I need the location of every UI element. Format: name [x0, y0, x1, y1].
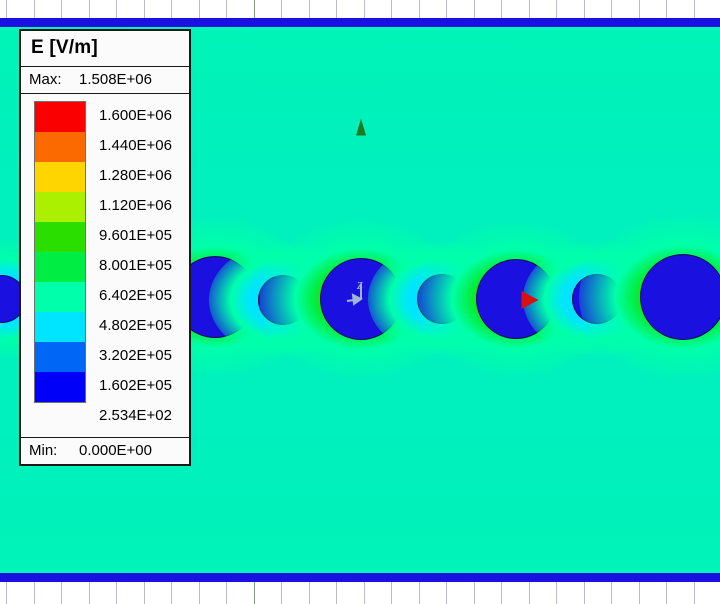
enclosure-wall-bottom	[0, 573, 720, 582]
enclosure-wall-top	[0, 18, 720, 27]
ruler-tick	[336, 582, 337, 604]
ruler-tick	[199, 0, 200, 18]
legend-min-row: Min: 0.000E+00	[21, 437, 189, 464]
ruler-tick	[666, 0, 667, 18]
ruler-tick	[144, 0, 145, 18]
ruler-tick	[116, 0, 117, 18]
ruler-tick	[391, 0, 392, 18]
ruler-tick	[144, 582, 145, 604]
ruler-tick	[529, 582, 530, 604]
legend-min-value: 0.000E+00	[79, 442, 152, 459]
conductor-disc	[477, 260, 555, 338]
conductor-disc	[641, 255, 720, 339]
ruler-tick	[171, 0, 172, 18]
ruler-tick	[226, 582, 227, 604]
legend-swatch	[35, 132, 85, 162]
legend-color-scale: 1.600E+061.440E+061.280E+061.120E+069.60…	[21, 94, 189, 437]
conductor-disc	[573, 275, 621, 323]
ruler-tick	[446, 0, 447, 18]
axis-label-z: z	[357, 277, 363, 294]
legend-tick-label: 4.802E+05	[99, 311, 189, 341]
ruler-tick	[61, 582, 62, 604]
legend-tick-column: 1.600E+061.440E+061.280E+061.120E+069.60…	[99, 86, 189, 431]
legend-tick-label: 9.601E+05	[99, 221, 189, 251]
color-legend-panel[interactable]: E [V/m] Max: 1.508E+06 1.600E+061.440E+0…	[19, 29, 191, 466]
ruler-tick	[639, 582, 640, 604]
legend-tick-label: 6.402E+05	[99, 281, 189, 311]
ruler-tick	[281, 0, 282, 18]
legend-tick-label: 1.440E+06	[99, 131, 189, 161]
ruler-tick	[474, 0, 475, 18]
ruler-tick	[474, 582, 475, 604]
ruler-tick	[501, 582, 502, 604]
ruler-tick	[391, 582, 392, 604]
legend-title: E [V/m]	[21, 31, 189, 67]
ruler-tick	[309, 0, 310, 18]
axis-triad-marker: z	[341, 279, 381, 319]
ruler-tick	[61, 0, 62, 18]
ruler-tick	[419, 0, 420, 18]
legend-max-label: Max:	[29, 71, 79, 88]
ruler-tick	[694, 0, 695, 18]
ruler-grid-top	[0, 0, 720, 18]
ruler-tick	[226, 0, 227, 18]
ruler-tick	[89, 0, 90, 18]
legend-tick-label: 1.280E+06	[99, 161, 189, 191]
ruler-tick	[116, 582, 117, 604]
ruler-tick	[419, 582, 420, 604]
legend-swatch-column	[34, 101, 86, 403]
ruler-tick	[254, 582, 255, 604]
legend-tick-label: 1.120E+06	[99, 191, 189, 221]
ruler-tick	[254, 0, 255, 18]
ruler-tick	[639, 0, 640, 18]
ruler-tick	[611, 582, 612, 604]
field-plot-window: z E [V/m] Max: 1.508E+06 1.600E+061.440E…	[0, 0, 720, 604]
legend-swatch	[35, 222, 85, 252]
legend-swatch	[35, 192, 85, 222]
legend-swatch	[35, 162, 85, 192]
legend-tick-label: 1.602E+05	[99, 371, 189, 401]
ruler-tick	[6, 0, 7, 18]
ruler-tick	[336, 0, 337, 18]
ruler-tick	[34, 582, 35, 604]
legend-swatch	[35, 282, 85, 312]
legend-tick-label: 8.001E+05	[99, 251, 189, 281]
ruler-tick	[34, 0, 35, 18]
ruler-tick	[584, 0, 585, 18]
ruler-tick	[281, 582, 282, 604]
ruler-tick	[584, 582, 585, 604]
ruler-tick	[694, 582, 695, 604]
green-triangle-marker	[356, 119, 366, 136]
legend-tick-label: 2.534E+02	[99, 401, 189, 431]
ruler-tick	[611, 0, 612, 18]
legend-swatch	[35, 252, 85, 282]
legend-min-label: Min:	[29, 442, 79, 459]
legend-swatch	[35, 372, 85, 402]
ruler-tick	[556, 582, 557, 604]
ruler-tick	[309, 582, 310, 604]
ruler-tick	[556, 0, 557, 18]
ruler-tick	[364, 582, 365, 604]
legend-swatch	[35, 342, 85, 372]
legend-tick-label: 3.202E+05	[99, 341, 189, 371]
ruler-grid-bottom	[0, 582, 720, 604]
ruler-tick	[529, 0, 530, 18]
ruler-tick	[199, 582, 200, 604]
ruler-tick	[364, 0, 365, 18]
ruler-tick	[501, 0, 502, 18]
ruler-tick	[89, 582, 90, 604]
ruler-tick	[666, 582, 667, 604]
red-arrow-marker	[522, 291, 539, 309]
ruler-tick	[171, 582, 172, 604]
ruler-tick	[6, 582, 7, 604]
ruler-tick	[446, 582, 447, 604]
legend-swatch	[35, 312, 85, 342]
conductor-disc	[418, 275, 466, 323]
legend-tick-label: 1.600E+06	[99, 101, 189, 131]
conductor-disc	[259, 276, 307, 324]
legend-swatch	[35, 102, 85, 132]
